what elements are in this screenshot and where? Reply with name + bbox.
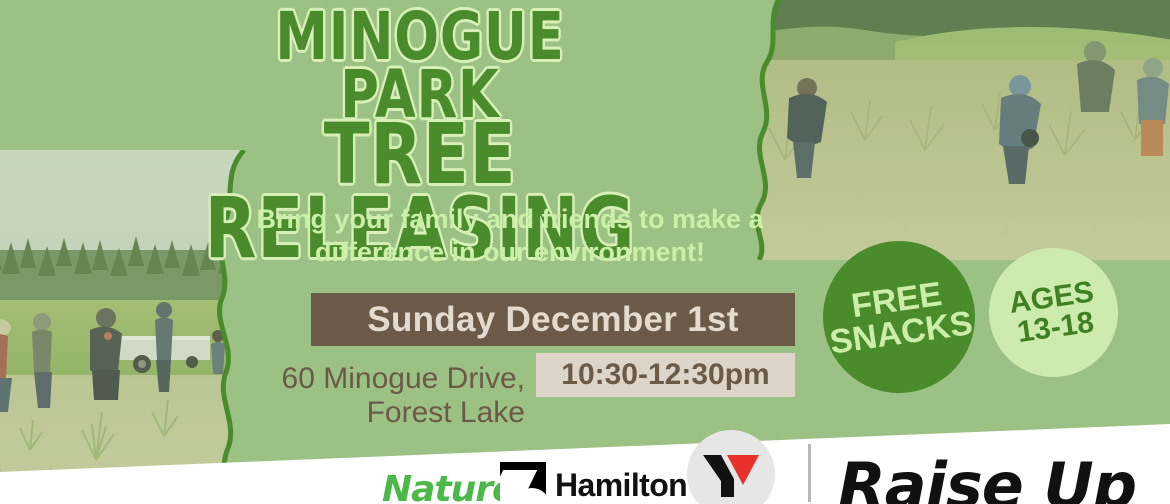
- ymca-y-icon: [701, 451, 761, 497]
- logo-divider: [808, 444, 811, 502]
- poster-subtitle: Bring your family and friends to make a …: [205, 203, 815, 269]
- logo-raise-up: Raise Up: [838, 449, 1136, 504]
- logo-hamilton-city-council: Hamilton: [500, 462, 687, 504]
- hamilton-mark-icon: [500, 462, 546, 504]
- event-date-text: Sunday December 1st: [367, 300, 738, 340]
- event-time-banner: 10:30-12:30pm: [536, 353, 795, 397]
- badge-ages: AGES 13-18: [981, 240, 1127, 386]
- address-line-1: 60 Minogue Drive,: [170, 362, 525, 396]
- logo-nature: Nature: [382, 469, 515, 504]
- event-time-text: 10:30-12:30pm: [561, 358, 769, 392]
- event-poster: MINOGUE PARK TREE RELEASING Bring your f…: [0, 0, 1170, 504]
- event-date-banner: Sunday December 1st: [311, 293, 795, 346]
- sponsor-logo-row: Nature Hamilton Raise Up: [0, 444, 1170, 504]
- hamilton-wordmark: Hamilton: [555, 467, 687, 504]
